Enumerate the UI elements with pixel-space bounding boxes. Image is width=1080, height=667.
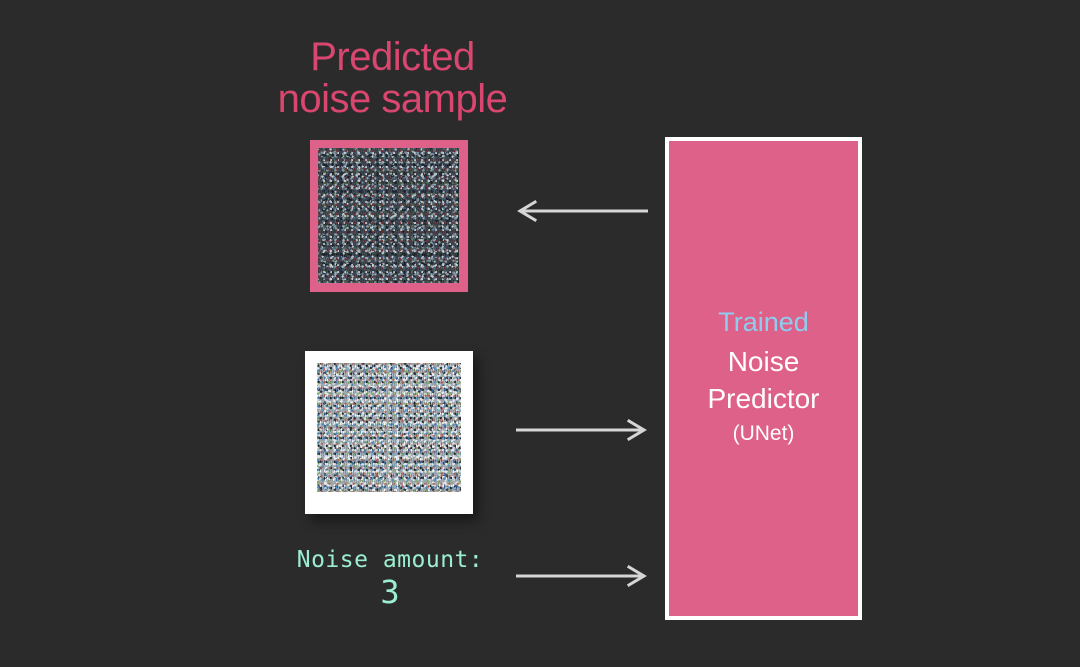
- predictor-trained-label: Trained: [718, 305, 809, 339]
- predicted-noise-image: [310, 140, 468, 292]
- diagram-canvas: Predicted noise sample Noise amount: 3: [0, 0, 1080, 667]
- noise-layer-grain: [317, 363, 461, 492]
- page-title: Predicted noise sample: [200, 36, 585, 120]
- predictor-name: Noise Predictor: [707, 343, 819, 417]
- noise-amount-block: Noise amount: 3: [240, 546, 540, 610]
- arrow-left-icon: [516, 198, 648, 224]
- input-noisy-image: [305, 351, 473, 514]
- noise-amount-value: 3: [240, 574, 540, 610]
- noise-layer-grain: [318, 148, 459, 283]
- predictor-architecture: (UNet): [733, 420, 795, 448]
- noise-predictor-box: Trained Noise Predictor (UNet): [665, 137, 862, 620]
- predicted-noise-texture: [318, 148, 459, 283]
- arrow-right-icon: [516, 563, 648, 589]
- arrow-right-icon: [516, 417, 648, 443]
- noise-amount-label: Noise amount:: [240, 546, 540, 574]
- input-noise-texture: [317, 363, 461, 492]
